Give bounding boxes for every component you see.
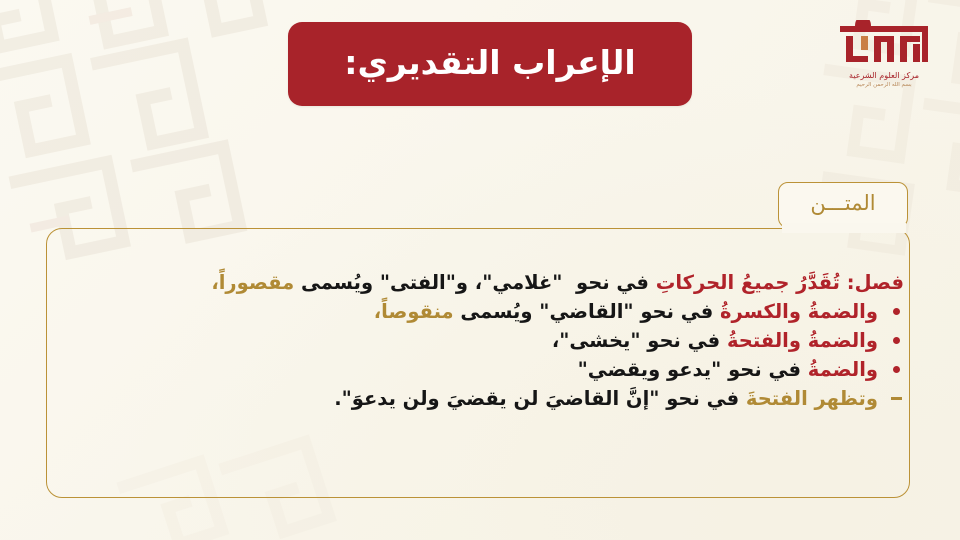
bullet-dot-icon (893, 337, 900, 344)
matn-line: والضمةُ في نحو "يدعو ويقضي" (56, 355, 904, 384)
matn-line: فصل: تُقَدَّرُ جميعُ الحركاتِ في نحو "غل… (56, 268, 904, 297)
matn-line: والضمةُ والكسرةُ في نحو "القاضي" ويُسمى … (56, 297, 904, 326)
matn-text-segment: في نحو "غلامي"، و"الفتى" ويُسمى (294, 271, 649, 294)
matn-text-segment: مقصوراً، (211, 271, 294, 294)
tab-matn[interactable]: المتـــن (778, 182, 908, 228)
matn-text-segment: تُقَدَّرُ جميعُ الحركاتِ (649, 271, 840, 294)
slide-title-banner: الإعراب التقديري: (288, 22, 692, 106)
matn-text-segment: منقوصاً، (374, 300, 454, 323)
tab-matn-label: المتـــن (810, 193, 875, 217)
bullet-dash-icon (891, 397, 902, 400)
brand-logo: مركز العلوم الشرعية بسم الله الرحمن الرح… (822, 20, 946, 100)
bullet-dot-icon (893, 366, 900, 373)
matn-line: وتظهر الفتحةَ في نحو "إنَّ القاضيَ لن يق… (56, 384, 904, 413)
matn-text-segment: والضمةُ (801, 358, 878, 381)
matn-text-body: فصل: تُقَدَّرُ جميعُ الحركاتِ في نحو "غل… (56, 268, 904, 413)
matn-text-segment: والضمةُ والكسرةُ (713, 300, 878, 323)
logo-subtitle-small: بسم الله الرحمن الرحيم (856, 82, 911, 88)
matn-text-segment: وتظهر الفتحةَ (739, 387, 878, 410)
matn-text-segment: في نحو "يدعو ويقضي" (578, 358, 801, 381)
page-title: الإعراب التقديري: (344, 46, 635, 83)
tab-notch-mask (782, 223, 906, 233)
bullet-dot-icon (893, 308, 900, 315)
logo-subtitle: مركز العلوم الشرعية (849, 71, 919, 80)
mosque-dome-icon (826, 20, 942, 68)
matn-text-segment: فصل: (840, 271, 904, 294)
ihkam-logo-mark (826, 20, 942, 68)
matn-text-segment: في نحو "يخشى"، (552, 329, 720, 352)
matn-text-segment: في نحو "إنَّ القاضيَ لن يقضيَ ولن يدعوَ"… (334, 387, 739, 410)
matn-text-segment: والضمةُ والفتحةُ (720, 329, 878, 352)
slide-canvas: الإعراب التقديري: (0, 0, 960, 540)
matn-line: والضمةُ والفتحةُ في نحو "يخشى"، (56, 326, 904, 355)
matn-text-segment: في نحو "القاضي" ويُسمى (454, 300, 714, 323)
